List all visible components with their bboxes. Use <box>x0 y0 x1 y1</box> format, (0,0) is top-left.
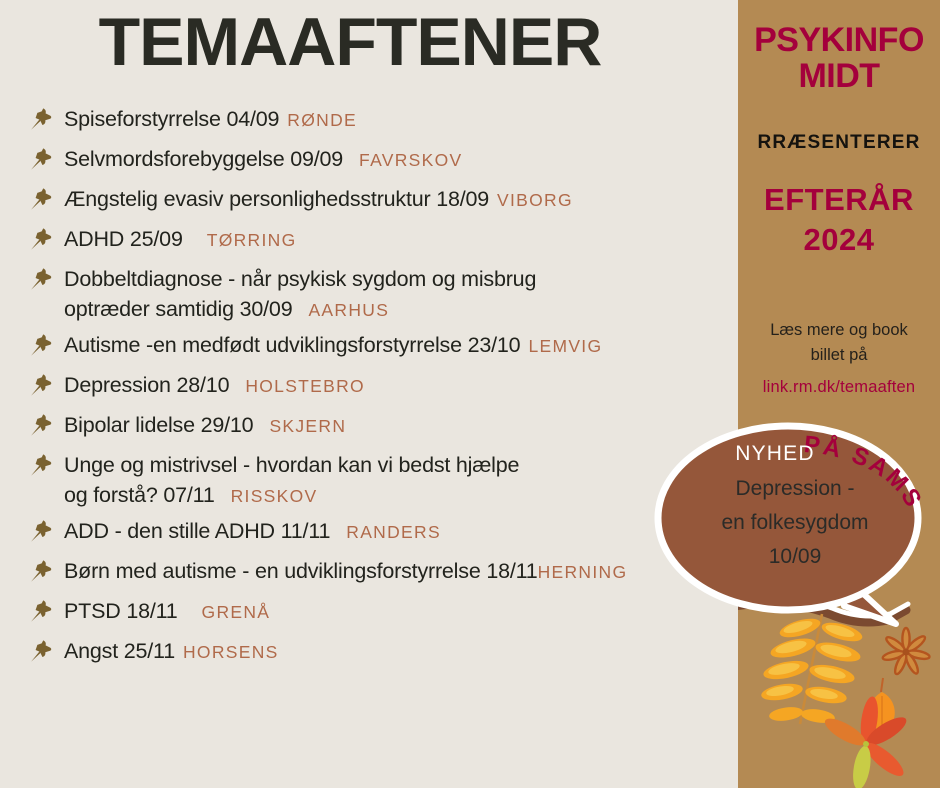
event-row[interactable]: Autisme -en medfødt udviklingsforstyrrel… <box>22 330 738 364</box>
event-body: Depression 28/10HOLSTEBRO <box>64 370 365 400</box>
event-line: Bipolar lidelse 29/10SKJERN <box>64 410 346 440</box>
booking-note-line-2: billet på <box>738 343 940 368</box>
event-title: Dobbeltdiagnose - når psykisk sygdom og … <box>64 267 536 291</box>
event-body: Dobbeltdiagnose - når psykisk sygdom og … <box>64 264 536 324</box>
brand-line-1: PSYKINFO <box>738 22 940 58</box>
event-title: Spiseforstyrrelse 04/09 <box>64 107 279 131</box>
pushpin-icon <box>28 412 54 438</box>
booking-link[interactable]: link.rm.dk/temaaften <box>738 378 940 397</box>
event-title: Børn med autisme - en udviklingsforstyrr… <box>64 559 538 583</box>
event-title: Selvmordsforebyggelse 09/09 <box>64 147 343 171</box>
event-line: Dobbeltdiagnose - når psykisk sygdom og … <box>64 264 536 294</box>
event-line: Depression 28/10HOLSTEBRO <box>64 370 365 400</box>
poster-root: TEMAAFTENER Spiseforstyrrelse 04/09RØNDE… <box>0 0 940 788</box>
event-title: ADHD 25/09 <box>64 227 183 251</box>
event-row[interactable]: Unge og mistrivsel - hvordan kan vi beds… <box>22 450 738 510</box>
event-title: optræder samtidig 30/09 <box>64 297 292 321</box>
event-row[interactable]: Dobbeltdiagnose - når psykisk sygdom og … <box>22 264 738 324</box>
pushpin-icon <box>28 106 54 132</box>
page-title: TEMAAFTENER <box>0 8 700 76</box>
event-title: Autisme -en medfødt udviklingsforstyrrel… <box>64 333 520 357</box>
event-row[interactable]: ADD - den stille ADHD 11/11RANDERS <box>22 516 738 550</box>
event-row[interactable]: Bipolar lidelse 29/10SKJERN <box>22 410 738 444</box>
pushpin-icon <box>28 226 54 252</box>
event-city: HORSENS <box>183 642 279 662</box>
event-line: Unge og mistrivsel - hvordan kan vi beds… <box>64 450 519 480</box>
event-line: Selvmordsforebyggelse 09/09FAVRSKOV <box>64 144 462 174</box>
brand-name: PSYKINFO MIDT <box>738 22 940 94</box>
event-list: Spiseforstyrrelse 04/09RØNDESelvmordsfor… <box>22 104 738 676</box>
event-row[interactable]: PTSD 18/11GRENÅ <box>22 596 738 630</box>
event-title: og forstå? 07/11 <box>64 483 215 507</box>
pushpin-icon <box>28 558 54 584</box>
event-city: FAVRSKOV <box>359 150 462 170</box>
event-body: ADD - den stille ADHD 11/11RANDERS <box>64 516 441 546</box>
event-line: ADHD 25/09TØRRING <box>64 224 297 254</box>
event-city: VIBORG <box>497 190 573 210</box>
event-city: RISSKOV <box>231 486 318 506</box>
event-row[interactable]: Selvmordsforebyggelse 09/09FAVRSKOV <box>22 144 738 178</box>
event-body: Børn med autisme - en udviklingsforstyrr… <box>64 556 627 586</box>
booking-note: Læs mere og book billet på <box>738 318 940 368</box>
left-panel: TEMAAFTENER Spiseforstyrrelse 04/09RØNDE… <box>0 0 738 788</box>
event-line: Børn med autisme - en udviklingsforstyrr… <box>64 556 627 586</box>
event-body: Selvmordsforebyggelse 09/09FAVRSKOV <box>64 144 462 174</box>
event-body: Angst 25/11HORSENS <box>64 636 279 666</box>
event-line: og forstå? 07/11RISSKOV <box>64 480 519 510</box>
event-body: ADHD 25/09TØRRING <box>64 224 297 254</box>
event-title: Angst 25/11 <box>64 639 175 663</box>
brand-line-2: MIDT <box>738 58 940 94</box>
event-line: optræder samtidig 30/09AARHUS <box>64 294 536 324</box>
pushpin-icon <box>28 332 54 358</box>
event-line: ADD - den stille ADHD 11/11RANDERS <box>64 516 441 546</box>
pushpin-icon <box>28 266 54 292</box>
event-row[interactable]: ADHD 25/09TØRRING <box>22 224 738 258</box>
event-line: Angst 25/11HORSENS <box>64 636 279 666</box>
pushpin-icon <box>28 146 54 172</box>
event-line: PTSD 18/11GRENÅ <box>64 596 270 626</box>
event-body: PTSD 18/11GRENÅ <box>64 596 270 626</box>
event-city: AARHUS <box>308 300 389 320</box>
event-line: Spiseforstyrrelse 04/09RØNDE <box>64 104 357 134</box>
season-line-1: EFTERÅR <box>738 180 940 220</box>
season-line-2: 2024 <box>738 220 940 260</box>
event-city: RØNDE <box>287 110 357 130</box>
event-city: SKJERN <box>269 416 346 436</box>
pushpin-icon <box>28 372 54 398</box>
event-city: HOLSTEBRO <box>245 376 365 396</box>
event-city: GRENÅ <box>202 602 271 622</box>
event-city: LEMVIG <box>528 336 602 356</box>
event-line: Autisme -en medfødt udviklingsforstyrrel… <box>64 330 602 360</box>
pushpin-icon <box>28 598 54 624</box>
event-title: PTSD 18/11 <box>64 599 178 623</box>
chestnut-leaf-icon <box>821 695 910 788</box>
booking-note-line-1: Læs mere og book <box>738 318 940 343</box>
event-city: TØRRING <box>207 230 297 250</box>
event-line: Ængstelig evasiv personlighedsstruktur 1… <box>64 184 573 214</box>
pushpin-icon <box>28 186 54 212</box>
event-title: Bipolar lidelse 29/10 <box>64 413 253 437</box>
presenter-label: RRÆSENTERER <box>738 132 940 154</box>
event-row[interactable]: Depression 28/10HOLSTEBRO <box>22 370 738 404</box>
event-title: Unge og mistrivsel - hvordan kan vi beds… <box>64 453 519 477</box>
event-city: RANDERS <box>346 522 441 542</box>
event-body: Spiseforstyrrelse 04/09RØNDE <box>64 104 357 134</box>
season-heading: EFTERÅR 2024 <box>738 180 940 260</box>
event-row[interactable]: Spiseforstyrrelse 04/09RØNDE <box>22 104 738 138</box>
event-city: HERNING <box>538 562 628 582</box>
event-row[interactable]: Angst 25/11HORSENS <box>22 636 738 670</box>
event-title: Ængstelig evasiv personlighedsstruktur 1… <box>64 187 489 211</box>
event-row[interactable]: Børn med autisme - en udviklingsforstyrr… <box>22 556 738 590</box>
event-row[interactable]: Ængstelig evasiv personlighedsstruktur 1… <box>22 184 738 218</box>
event-body: Autisme -en medfødt udviklingsforstyrrel… <box>64 330 602 360</box>
event-body: Unge og mistrivsel - hvordan kan vi beds… <box>64 450 519 510</box>
event-title: Depression 28/10 <box>64 373 229 397</box>
pushpin-icon <box>28 518 54 544</box>
event-title: ADD - den stille ADHD 11/11 <box>64 519 330 543</box>
event-body: Ængstelig evasiv personlighedsstruktur 1… <box>64 184 573 214</box>
event-body: Bipolar lidelse 29/10SKJERN <box>64 410 346 440</box>
news-speech-bubble: PÅ SAMSØ NYHED Depression - en folkesygd… <box>648 418 940 653</box>
pushpin-icon <box>28 452 54 478</box>
pushpin-icon <box>28 638 54 664</box>
